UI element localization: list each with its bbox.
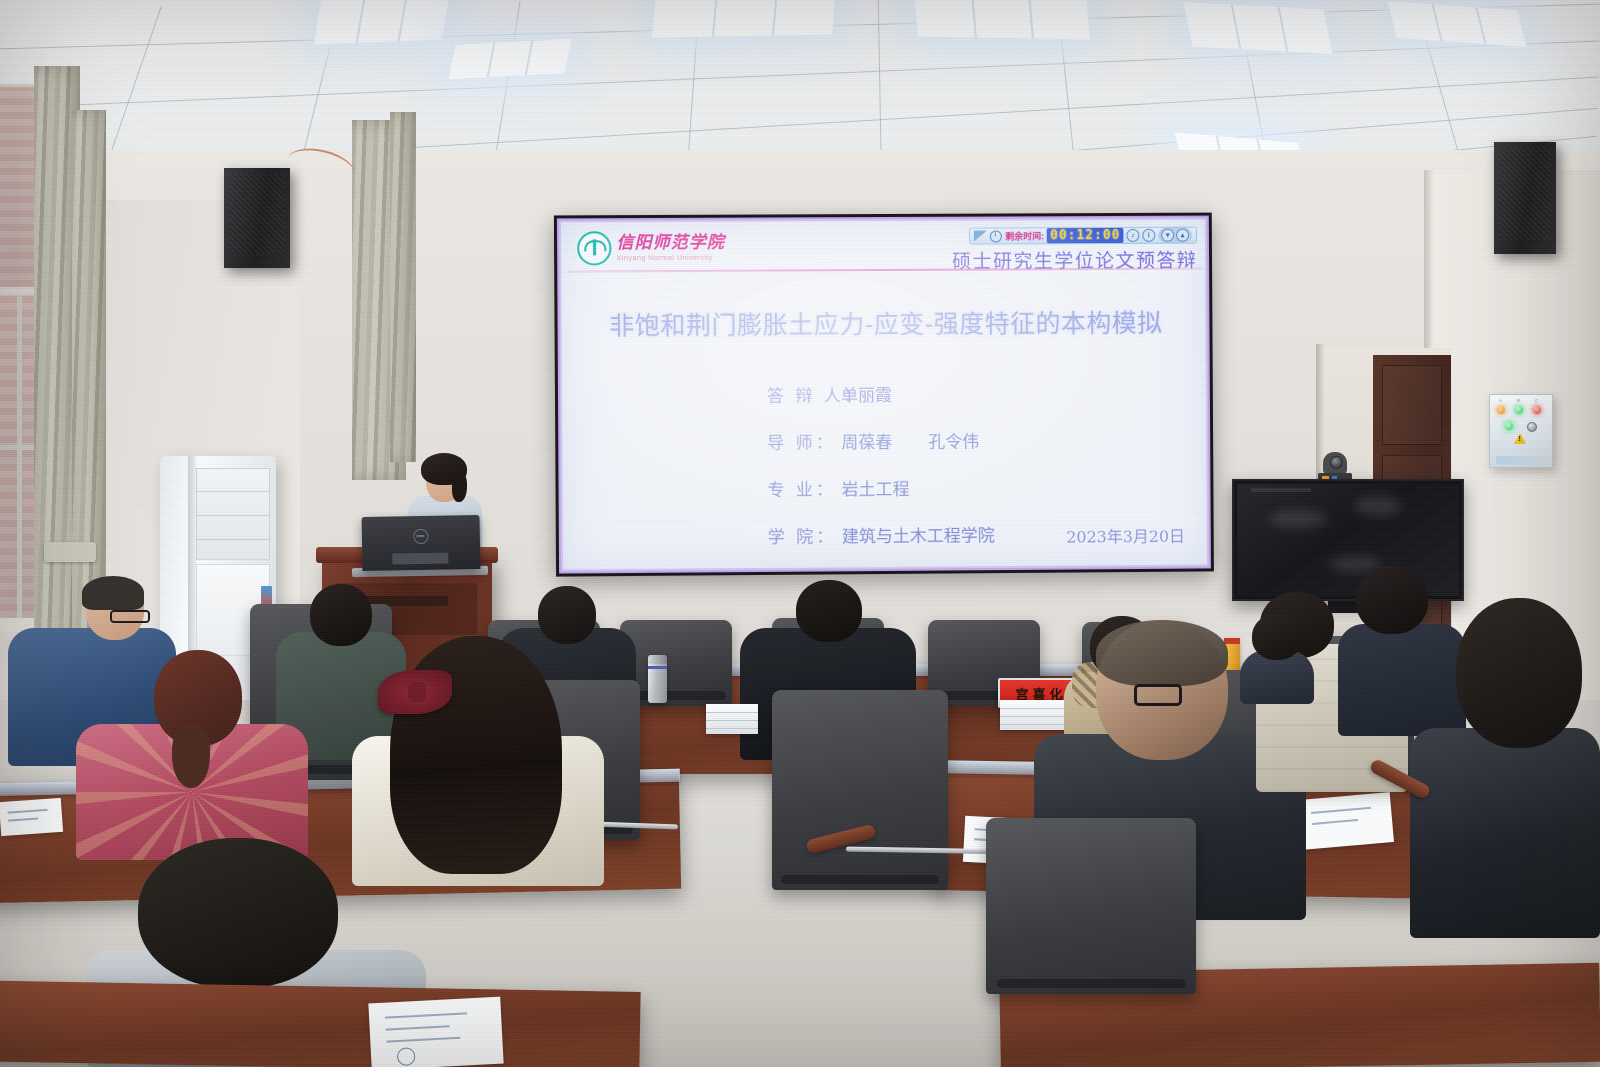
university-logo: 信阳师范学院 Xinyang Normal University xyxy=(577,231,725,266)
ceiling-light-5 xyxy=(1184,2,1332,54)
wall-speaker-right xyxy=(1494,142,1556,254)
field-advisor-value: 周葆春 xyxy=(841,428,892,453)
field-major-value: 岩土工程 xyxy=(841,475,909,500)
field-advisor: 导 师： 周葆春 孔令伟 xyxy=(767,427,994,453)
speaker-icon[interactable]: ♪ xyxy=(1126,229,1139,242)
led-power xyxy=(1505,422,1513,430)
presenter-hair-side xyxy=(452,472,467,502)
countdown-timer-bar[interactable]: 剩余时间: 00:12:00 ♪ i ▾ ▴ xyxy=(969,227,1197,245)
university-name-en: Xinyang Normal University xyxy=(616,253,724,261)
ceiling-light-3 xyxy=(652,0,836,38)
panel-footer-graphic xyxy=(1496,456,1546,464)
field-major-key: 专 业： xyxy=(767,475,841,501)
slide-fields: 答 辩 人： 单丽霞 导 师： 周葆春 孔令伟 专 业： 岩土工程 学 院： xyxy=(767,380,995,548)
ptz-camera xyxy=(1318,452,1352,482)
ac-air-vent xyxy=(196,468,270,560)
hair xyxy=(82,576,144,610)
audience-dark-jacket-far-right xyxy=(1410,598,1600,938)
curtain-tieback xyxy=(44,542,96,562)
field-presenter: 答 辩 人： 单丽霞 xyxy=(767,380,994,406)
warning-triangle-icon xyxy=(1514,433,1526,444)
field-presenter-value: 单丽霞 xyxy=(841,381,892,406)
university-name-cn: 信阳师范学院 xyxy=(616,234,725,252)
ceiling-light-2 xyxy=(449,39,572,79)
chevron-up-icon[interactable]: ▴ xyxy=(1176,229,1189,242)
field-school: 学 院： 建筑与土木工程学院 xyxy=(768,521,995,548)
led-phase-b xyxy=(1515,406,1523,414)
thermos-flask xyxy=(648,655,667,703)
slide-surface: 信阳师范学院 Xinyang Normal University 剩余时间: 0… xyxy=(557,216,1211,574)
field-major: 专 业： 岩土工程 xyxy=(767,474,994,501)
slide-title: 非饱和荆门膨胀土应力-应变-强度特征的本构模拟 xyxy=(565,303,1205,342)
paper-mid-left xyxy=(0,798,63,836)
ceiling-light-1 xyxy=(314,0,451,44)
booklet-foreground xyxy=(368,997,503,1067)
audience-student-left-far xyxy=(1240,614,1314,704)
curtain-center-2 xyxy=(390,112,416,462)
wall-speaker-left xyxy=(224,168,290,268)
field-advisor-value-2: 孔令伟 xyxy=(928,427,979,452)
camera-lens-icon xyxy=(1330,456,1343,469)
clock-icon xyxy=(990,230,1002,242)
chair-mid-3 xyxy=(772,690,948,890)
audience-pink-patterned-coat xyxy=(76,650,308,860)
timer-flag-icon xyxy=(974,231,987,242)
ponytail xyxy=(172,724,210,788)
hair-bow-knot xyxy=(408,682,426,702)
timer-value: 00:12:00 xyxy=(1047,228,1123,243)
field-presenter-key: 答 辩 人： xyxy=(767,381,841,406)
slide-date: 2023年3月20日 xyxy=(1066,523,1185,548)
head xyxy=(796,580,862,642)
timer-label: 剩余时间: xyxy=(1005,229,1044,242)
field-school-value: 建筑与土木工程学院 xyxy=(842,521,995,547)
camera-head xyxy=(1323,452,1347,474)
university-seal-icon xyxy=(577,231,611,265)
head xyxy=(1456,598,1582,748)
eyeglasses-icon xyxy=(1134,684,1182,706)
led-phase-a xyxy=(1497,406,1505,414)
paper-stack-center xyxy=(706,704,758,734)
laptop-brand-icon xyxy=(413,529,428,544)
projection-screen: 信阳师范学院 Xinyang Normal University 剩余时间: 0… xyxy=(554,213,1214,577)
timer-stepper[interactable]: ▾ ▴ xyxy=(1158,228,1192,243)
conference-room-photo: 信阳师范学院 Xinyang Normal University 剩余时间: 0… xyxy=(0,0,1600,1067)
short-hair xyxy=(1096,620,1228,686)
electrical-control-panel[interactable]: A B C xyxy=(1489,394,1553,468)
panel-knob[interactable] xyxy=(1527,422,1537,432)
laptop-sticker xyxy=(392,553,448,565)
foreground-table-left xyxy=(0,980,641,1067)
far-right-torso xyxy=(1410,728,1600,938)
led-phase-c xyxy=(1533,406,1541,414)
field-school-key: 学 院： xyxy=(768,522,842,548)
podium-laptop[interactable] xyxy=(362,515,481,571)
slide-header: 信阳师范学院 Xinyang Normal University 剩余时间: 0… xyxy=(569,226,1203,273)
eyeglasses-icon xyxy=(110,610,150,623)
chevron-down-icon[interactable]: ▾ xyxy=(1161,229,1174,242)
slide-content: 信阳师范学院 Xinyang Normal University 剩余时间: 0… xyxy=(565,222,1207,570)
field-advisor-key: 导 师： xyxy=(767,428,841,454)
info-icon[interactable]: i xyxy=(1142,229,1155,242)
head xyxy=(138,838,338,988)
ceiling-light-4 xyxy=(914,0,1090,40)
head xyxy=(1252,614,1302,660)
chair-foreground-right xyxy=(986,818,1196,994)
paper-mid-right-2 xyxy=(1298,792,1394,850)
